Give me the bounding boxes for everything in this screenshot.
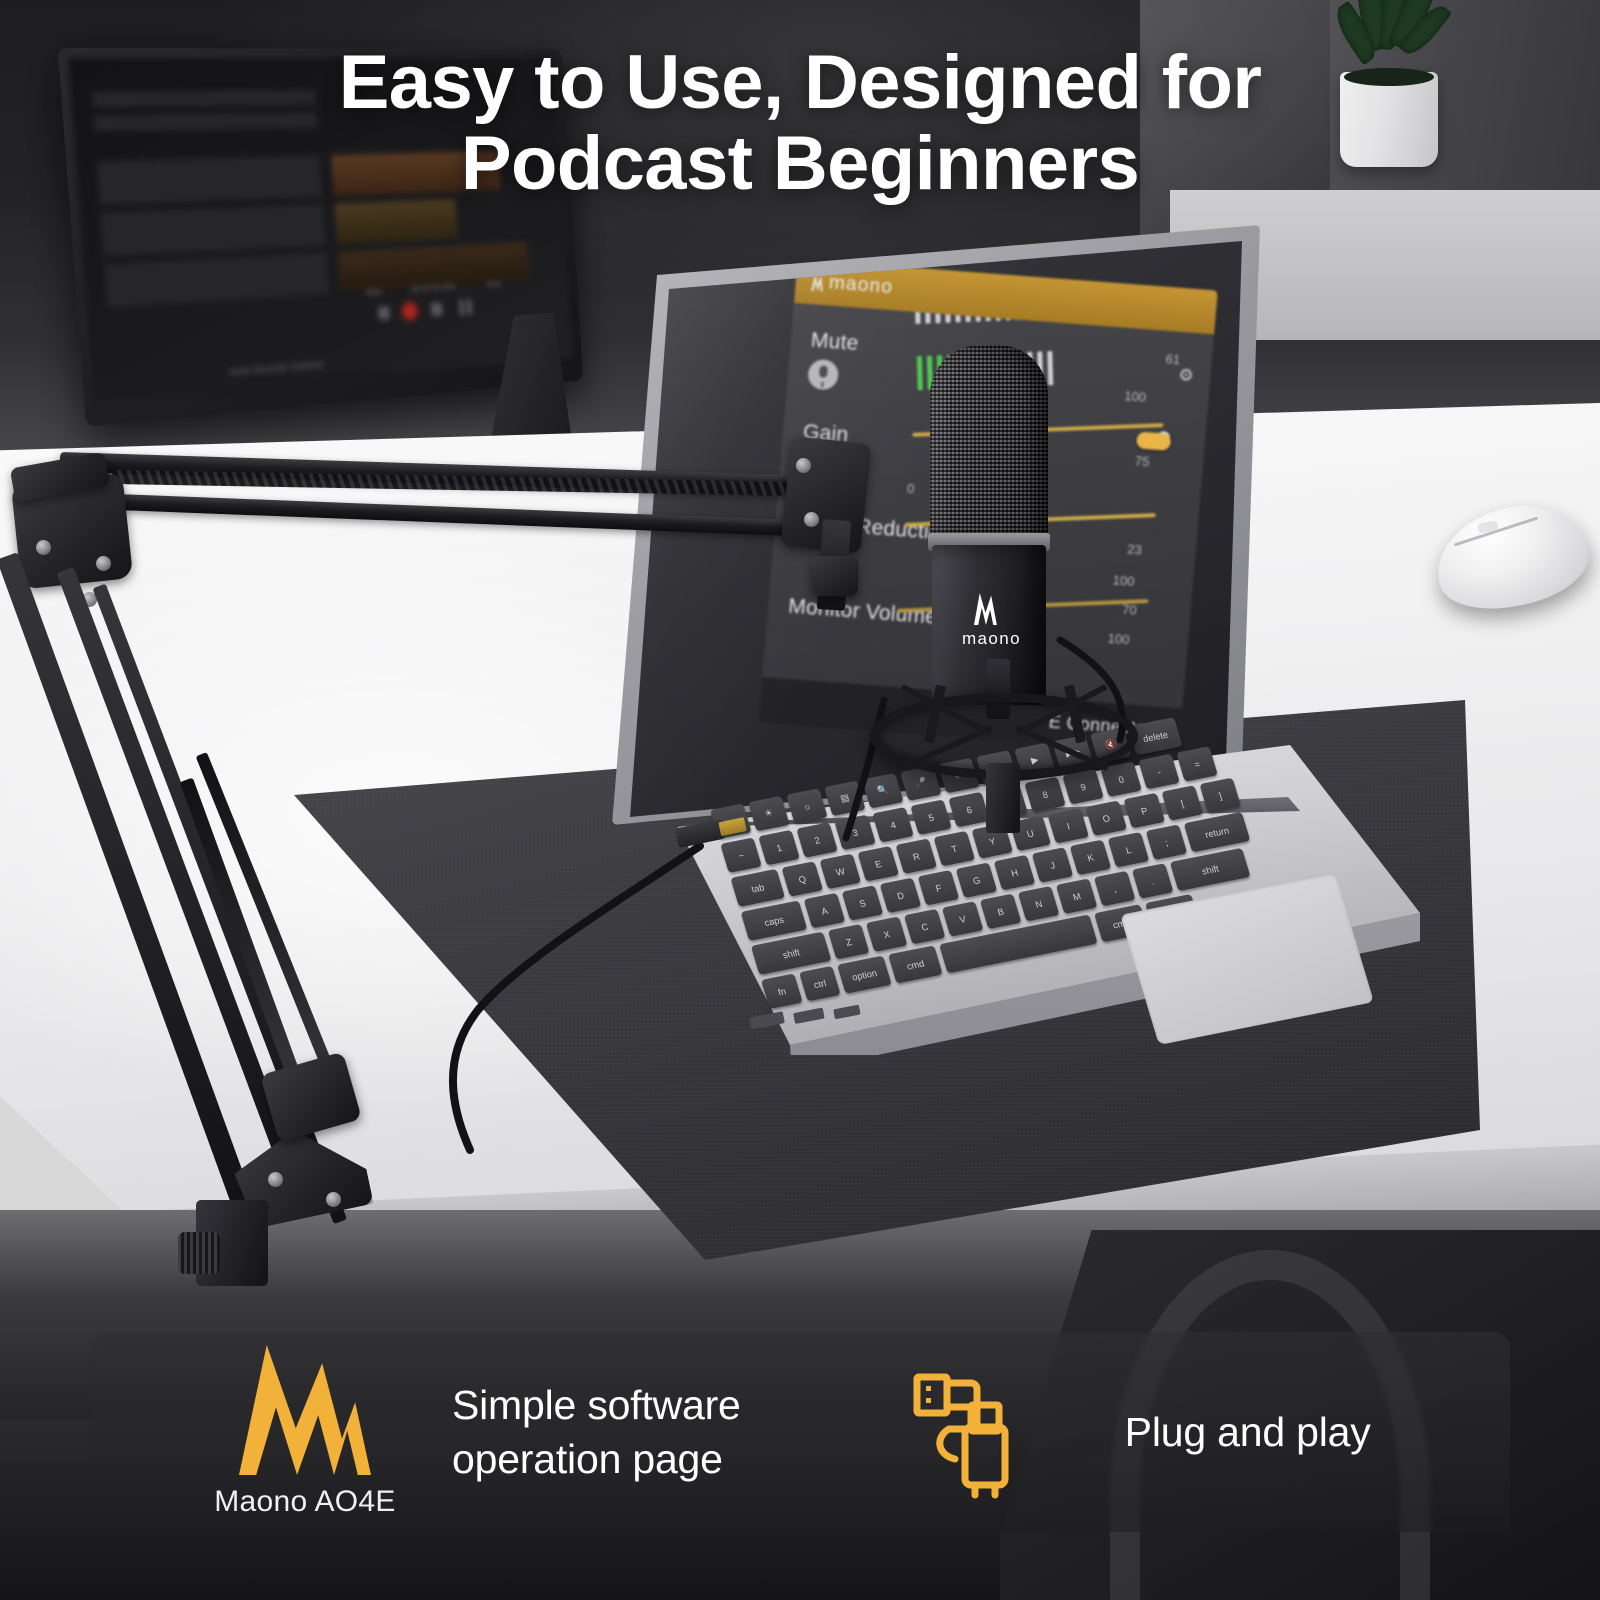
headline-line-2: Podcast Beginners — [0, 123, 1600, 204]
feature-plug-and-play: Plug and play — [909, 1357, 1371, 1507]
maono-m-logo-icon — [239, 1345, 371, 1475]
boom-screw-7 — [804, 512, 819, 527]
feature-1-line-2: operation page — [452, 1432, 741, 1486]
boom-screw-1 — [36, 540, 51, 555]
feature-1-line-1: Simple software — [452, 1378, 741, 1432]
product-banner-stage: Start 00:00:00.000 End Audio Recorder So… — [0, 0, 1600, 1600]
shock-mount — [870, 645, 1138, 775]
feature-text-plug-and-play: Plug and play — [1125, 1405, 1371, 1459]
mic-mount-collar — [812, 556, 858, 596]
feature-text-simple-software: Simple software operation page — [452, 1378, 741, 1486]
boom-upper-bar-2 — [64, 492, 824, 537]
microphone-stem — [986, 763, 1020, 833]
boom-screw-5 — [326, 1192, 341, 1207]
boom-screw-6 — [796, 458, 811, 473]
usb-cable-icon — [909, 1357, 1069, 1507]
microphone: maono — [888, 345, 1118, 745]
clamp-tighten-knob[interactable] — [178, 1232, 220, 1274]
page-title: Easy to Use, Designed for Podcast Beginn… — [0, 42, 1600, 205]
feature-2-line-1: Plug and play — [1125, 1405, 1371, 1459]
microphone-grille — [930, 345, 1048, 540]
maono-brand-block: Maono AO4E — [210, 1345, 400, 1519]
headline-line-1: Easy to Use, Designed for — [0, 42, 1600, 123]
feature-bar: Maono AO4E Simple software operation pag… — [92, 1332, 1510, 1532]
feature-simple-software: Maono AO4E Simple software operation pag… — [210, 1345, 741, 1519]
boom-screw-2 — [96, 556, 111, 571]
boom-screw-4 — [268, 1172, 283, 1187]
maono-model-label: Maono AO4E — [214, 1485, 395, 1519]
